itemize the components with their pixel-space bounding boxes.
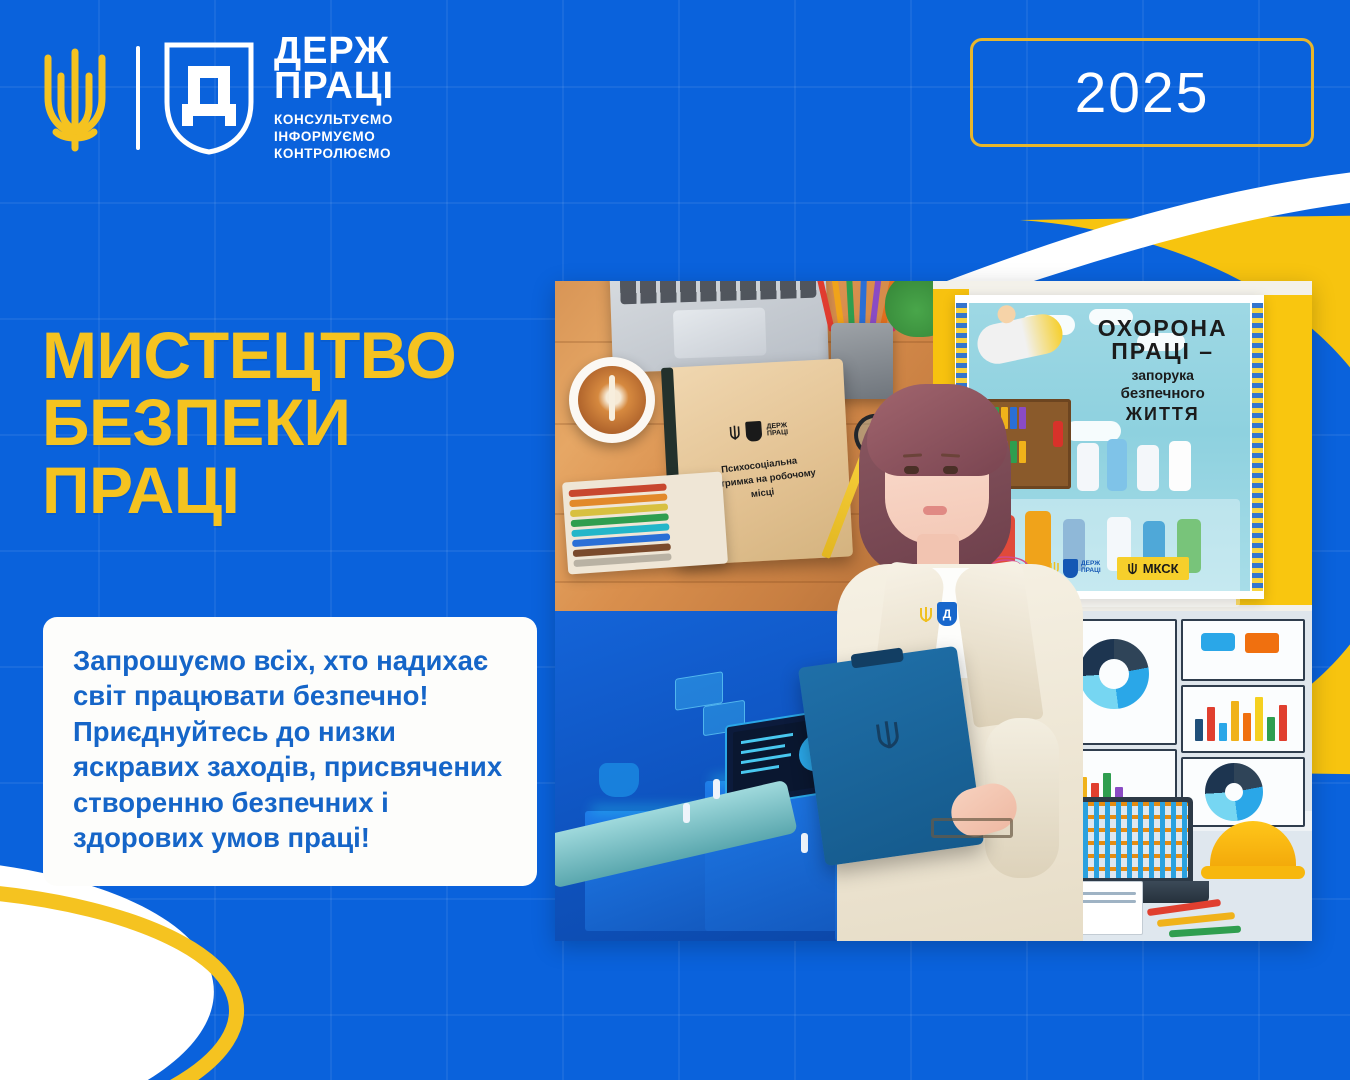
child-figure: [1107, 439, 1127, 491]
bar-chart-icon: [1195, 695, 1287, 741]
invitation-card: Запрошуємо всіх, хто надихає світ працюв…: [43, 617, 537, 886]
headline-line1: МИСТЕЦТВО: [42, 322, 456, 389]
logo-tagline: КОНСУЛЬТУЄМО ІНФОРМУЄМО КОНТРОЛЮЄМО: [274, 111, 394, 163]
year-badge: 2025: [970, 38, 1314, 147]
badge-letter: Д: [943, 608, 952, 620]
kids-title-line5: ЖИТТЯ: [1081, 404, 1244, 425]
kids-title-line3: запорука: [1081, 367, 1244, 383]
colored-pencils-box-icon: [562, 472, 728, 575]
brand-logo[interactable]: ДЕРЖ ПРАЦІ КОНСУЛЬТУЄМО ІНФОРМУЄМО КОНТР…: [38, 34, 394, 163]
logo-divider: [136, 46, 140, 150]
notebook-logo: ДЕРЖ ПРАЦІ: [728, 419, 788, 443]
year-label: 2025: [1075, 60, 1210, 126]
logo-tagline-line2: ІНФОРМУЄМО: [274, 128, 394, 145]
mksk-trident-icon: [1127, 561, 1138, 576]
child-figure: [1137, 445, 1159, 491]
avatar-hair: [867, 384, 1007, 476]
iso-shield-icon: [599, 763, 639, 797]
kids-title-line4: безпечного: [1081, 385, 1244, 402]
airplane-pilot-icon: [974, 310, 1066, 367]
avatar-logo-badge: Д: [919, 602, 957, 626]
header: ДЕРЖ ПРАЦІ КОНСУЛЬТУЄМО ІНФОРМУЄМО КОНТР…: [0, 0, 1350, 190]
iso-person-figure: [683, 803, 690, 823]
derzhpratsi-shield-icon: [162, 40, 256, 156]
hard-hat-icon: [1210, 821, 1296, 879]
coffee-cup-icon: [569, 357, 655, 443]
kids-poster-title: ОХОРОНА ПРАЦІ – запорука безпечного ЖИТТ…: [1081, 317, 1244, 425]
badge-shield-icon: Д: [937, 602, 957, 626]
donut-chart-icon: [1079, 639, 1149, 709]
logo-word-line1: ДЕРЖ: [274, 34, 394, 69]
invitation-text: Запрошуємо всіх, хто надихає світ працюв…: [73, 643, 509, 856]
page-title: МИСТЕЦТВО БЕЗПЕКИ ПРАЦІ: [42, 322, 456, 524]
badge-trident-icon: [919, 604, 933, 624]
poster-root: ДЕРЖ ПРАЦІ КОНСУЛЬТУЄМО ІНФОРМУЄМО КОНТР…: [0, 0, 1350, 1080]
clipboard-trident-icon: [873, 715, 904, 754]
logo-wordmark: ДЕРЖ ПРАЦІ КОНСУЛЬТУЄМО ІНФОРМУЄМО КОНТР…: [274, 34, 394, 163]
kids-title-line1: ОХОРОНА: [1081, 317, 1244, 340]
iso-person-figure: [713, 779, 720, 799]
child-figure: [1169, 441, 1191, 491]
headline-line2: БЕЗПЕКИ: [42, 389, 456, 456]
iso-person-figure: [801, 833, 808, 853]
notebook-logo-word2: ПРАЦІ: [767, 429, 789, 437]
image-collage: ДЕРЖ ПРАЦІ Психосоціальна підтримка на р…: [555, 281, 1312, 941]
logo-word-line2: ПРАЦІ: [274, 69, 394, 104]
logo-tagline-line3: КОНТРОЛЮЄМО: [274, 145, 394, 162]
laptop-icon: [609, 281, 829, 373]
mksk-label: МКСК: [1143, 561, 1179, 576]
female-inspector-figure: Д: [835, 388, 1085, 941]
donut-chart-icon: [1205, 763, 1263, 821]
kids-title-line2: ПРАЦІ –: [1081, 340, 1244, 363]
logo-tagline-line1: КОНСУЛЬТУЄМО: [274, 111, 394, 128]
ukrainian-trident-icon: [38, 36, 112, 160]
mksk-logo: МКСК: [1117, 557, 1189, 580]
headline-line3: ПРАЦІ: [42, 457, 456, 524]
